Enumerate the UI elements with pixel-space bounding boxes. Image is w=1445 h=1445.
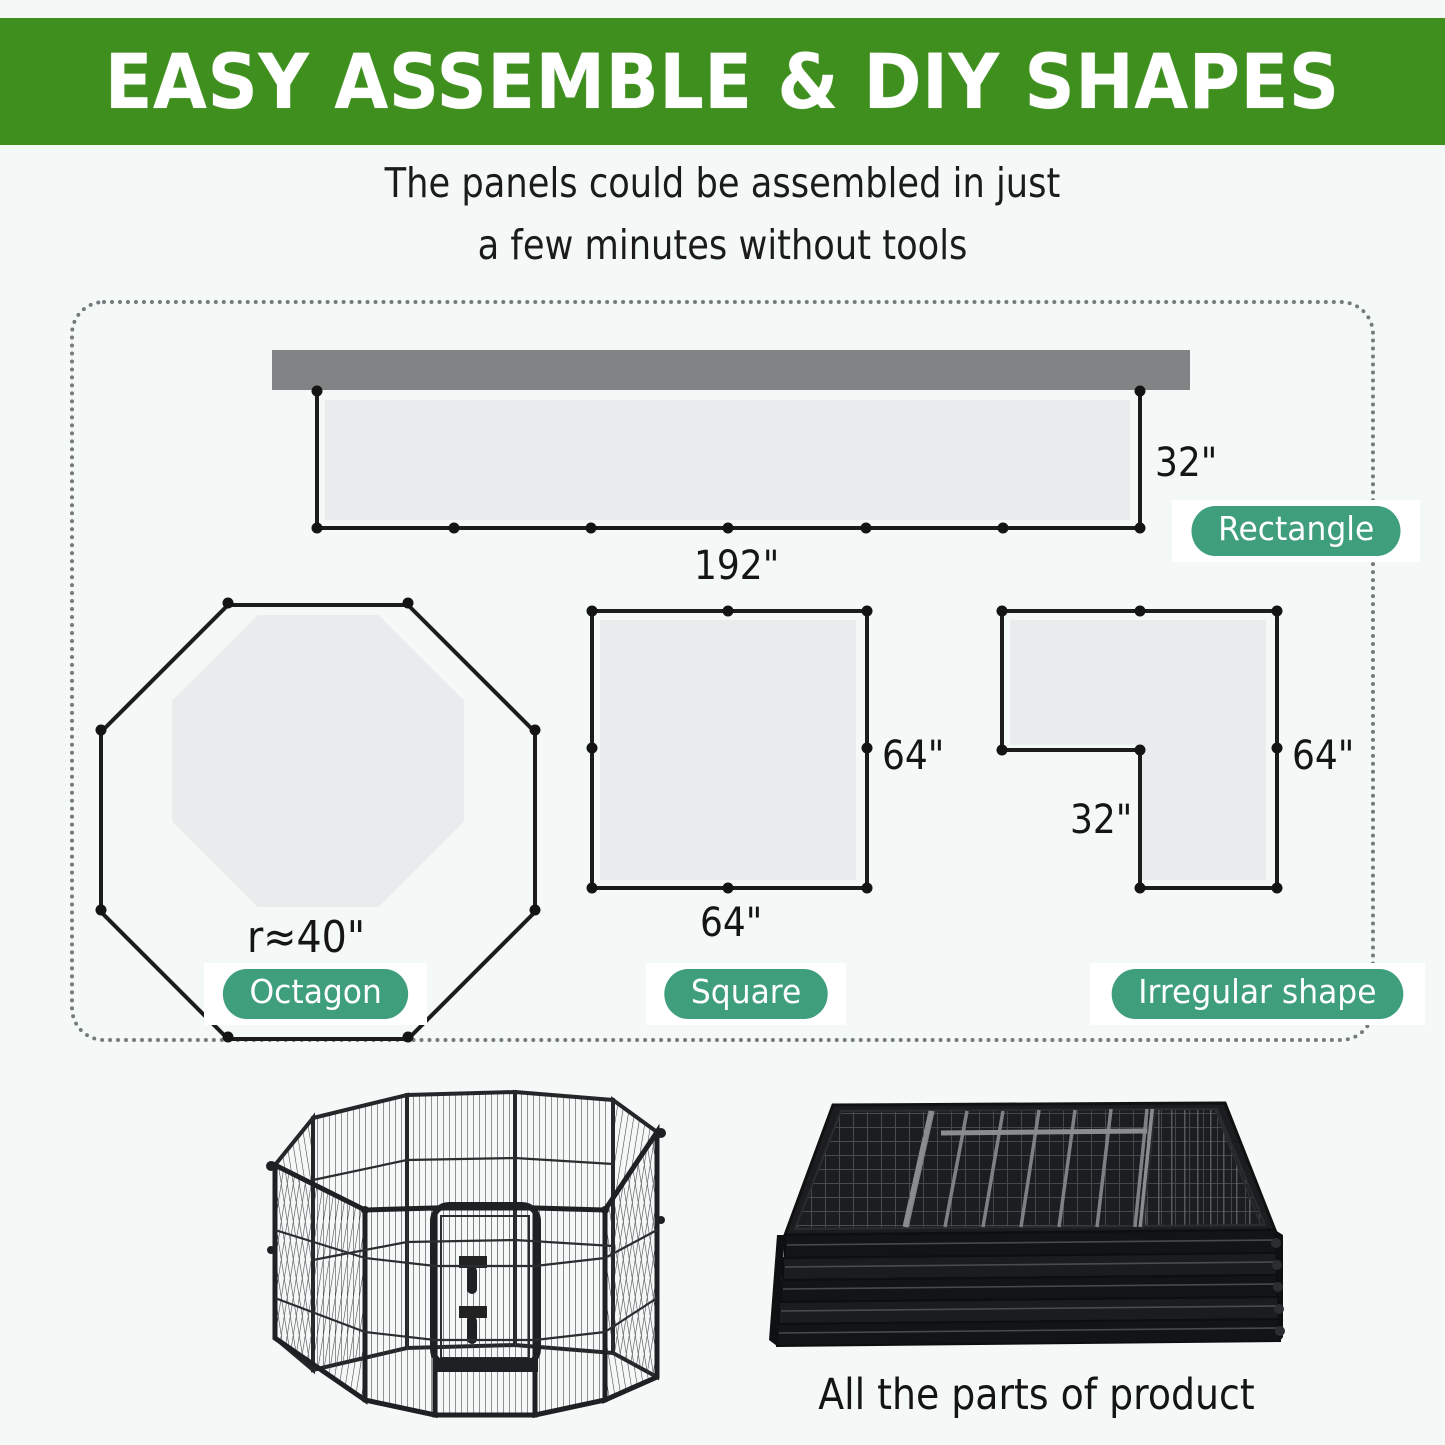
joint [997, 606, 1008, 617]
rectangle-label-wrap: Rectangle [1172, 500, 1420, 562]
joint [403, 598, 414, 609]
irregular-edge-notch-vertical [1138, 748, 1142, 890]
joint [1135, 883, 1146, 894]
joint [862, 883, 873, 894]
joint [312, 386, 323, 397]
octagon-edge-left [99, 732, 103, 912]
octagon-edge-right [533, 732, 537, 912]
joint [530, 905, 541, 916]
header-banner: EASY ASSEMBLE & DIY SHAPES [0, 18, 1445, 145]
page-title: EASY ASSEMBLE & DIY SHAPES [105, 37, 1340, 126]
joint [530, 725, 541, 736]
joint [96, 725, 107, 736]
subtitle-line-2: a few minutes without tools [101, 214, 1344, 276]
joint [862, 743, 873, 754]
irregular-edge-bottom [1138, 886, 1279, 890]
product-photo-playpen [245, 1070, 705, 1440]
joint [223, 598, 234, 609]
joint [587, 606, 598, 617]
octagon-edge-top [228, 603, 408, 607]
octagon-label: Octagon [223, 969, 409, 1019]
stack-layers [769, 1230, 1285, 1346]
joint [587, 743, 598, 754]
rectangle-label: Rectangle [1192, 506, 1401, 556]
joint [586, 523, 597, 534]
subtitle-block: The panels could be assembled in just a … [101, 152, 1344, 276]
joint [449, 523, 460, 534]
square-label-wrap: Square [646, 963, 846, 1025]
rectangle-fill [325, 400, 1130, 520]
joint [1135, 745, 1146, 756]
joint [223, 1032, 234, 1043]
square-fill [600, 620, 856, 880]
product-photo-folded-stack [755, 1085, 1295, 1385]
stack-top-face [785, 1103, 1275, 1235]
square-label: Square [664, 969, 828, 1019]
irregular-dim-height: 64" [1292, 733, 1354, 779]
joint [998, 523, 1009, 534]
irregular-edge-left [1000, 609, 1004, 752]
joint [1272, 606, 1283, 617]
octagon-fill [172, 615, 464, 907]
joint [723, 883, 734, 894]
rectangle-dim-height: 32" [1155, 440, 1217, 486]
rectangle-top-bar [272, 350, 1190, 390]
joint [96, 905, 107, 916]
irregular-label-wrap: Irregular shape [1090, 963, 1425, 1025]
joint [862, 606, 873, 617]
octagon-label-wrap: Octagon [204, 963, 427, 1025]
playpen-gate-door [433, 1205, 538, 1372]
joint [1135, 606, 1146, 617]
octagon-edge-bottom [228, 1037, 408, 1041]
joint [861, 523, 872, 534]
rectangle-edge-left [315, 390, 319, 530]
joint [1272, 743, 1283, 754]
joint [1272, 883, 1283, 894]
octagon-dim-radius: r≈40" [247, 912, 365, 963]
joint [403, 1032, 414, 1043]
rectangle-dim-width: 192" [694, 543, 779, 589]
stack-caption: All the parts of product [818, 1370, 1232, 1420]
joint [1135, 386, 1146, 397]
irregular-edge-notch-horizontal [1000, 748, 1142, 752]
joint [723, 523, 734, 534]
irregular-dim-notch: 32" [1070, 797, 1132, 843]
joint [1135, 523, 1146, 534]
irregular-label: Irregular shape [1112, 969, 1403, 1019]
subtitle-line-1: The panels could be assembled in just [101, 152, 1344, 214]
rectangle-edge-right [1138, 390, 1142, 530]
joint [587, 883, 598, 894]
infographic-stage: EASY ASSEMBLE & DIY SHAPES The panels co… [0, 0, 1445, 1445]
joint [723, 606, 734, 617]
square-dim-width: 64" [700, 900, 762, 946]
joint [312, 523, 323, 534]
joint [997, 745, 1008, 756]
square-dim-height: 64" [882, 733, 944, 779]
